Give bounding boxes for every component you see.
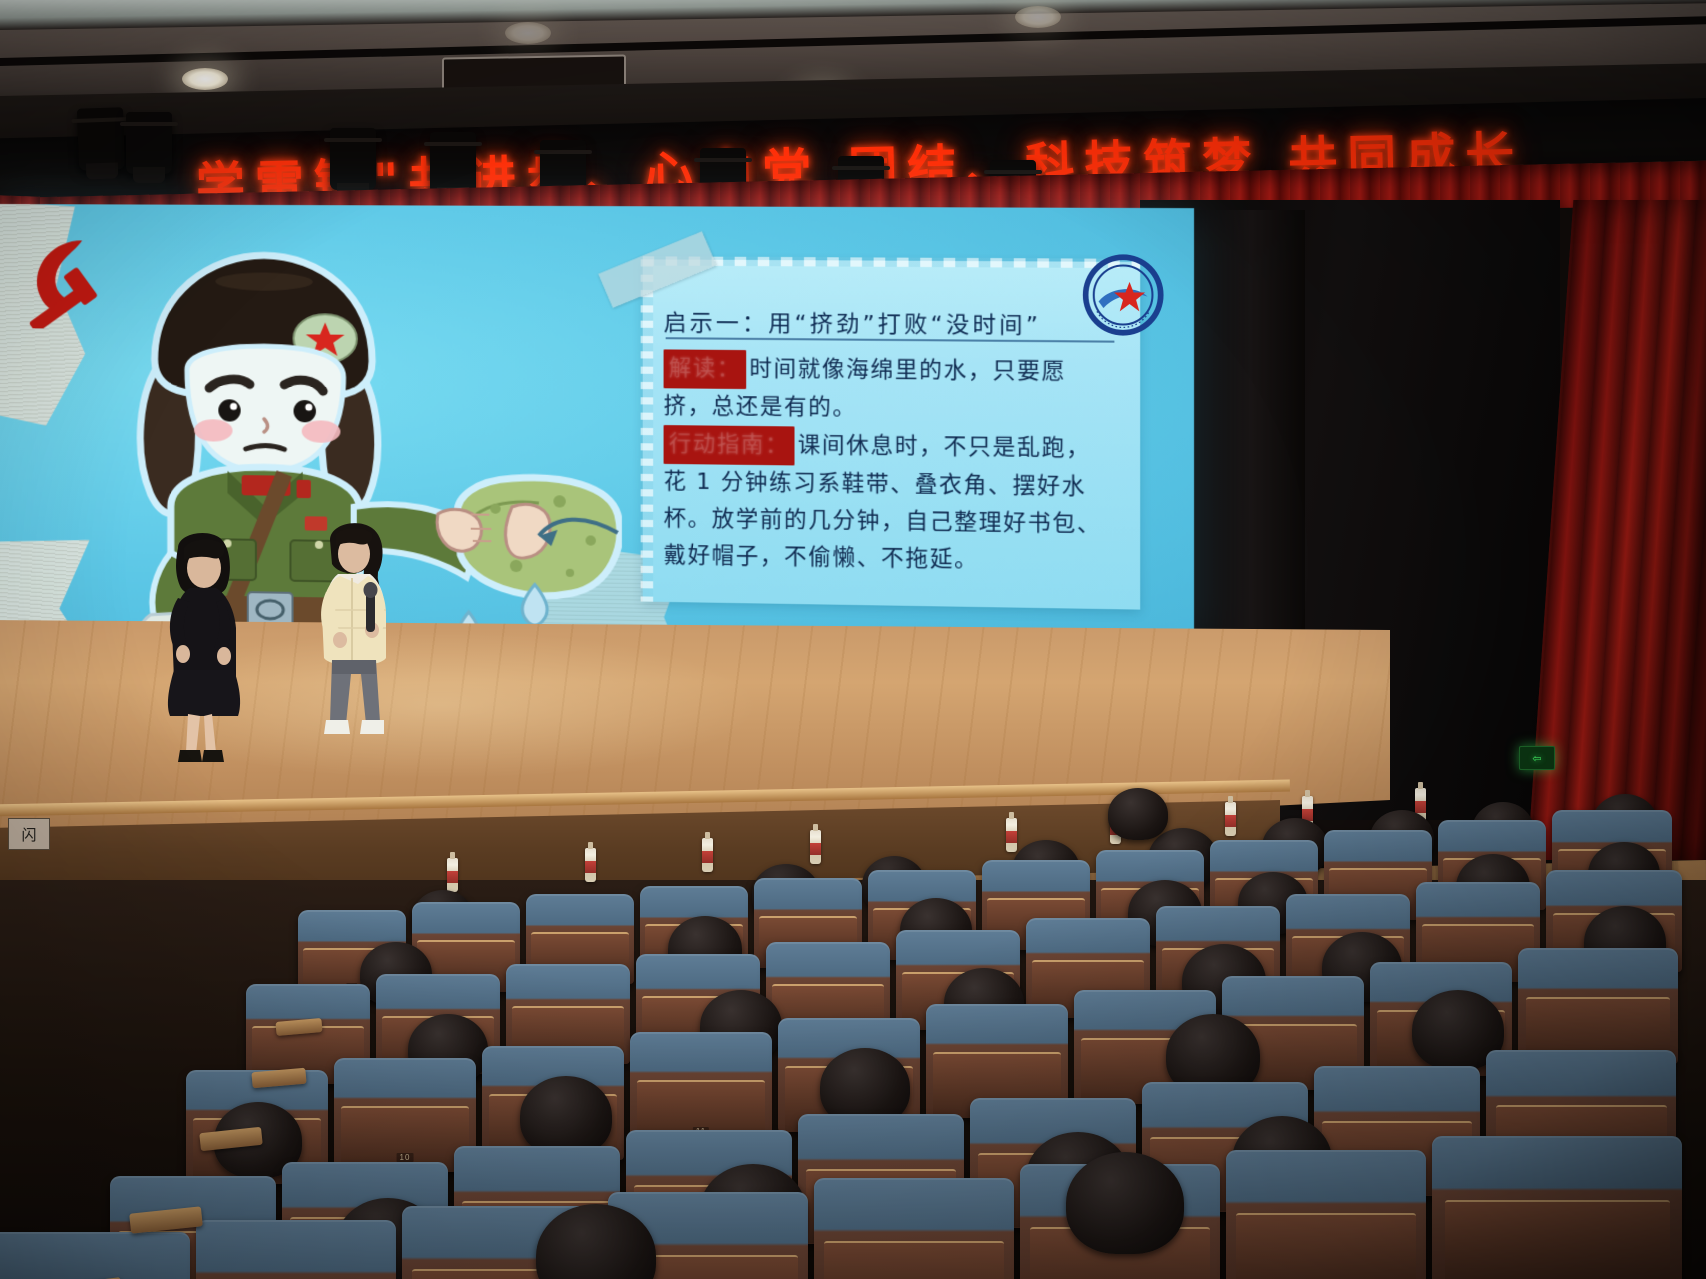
theater-seat[interactable] xyxy=(814,1178,1014,1279)
theater-seat[interactable] xyxy=(1518,948,1678,1064)
stage-front-sign: 闪 xyxy=(8,818,50,850)
seat-number: 10 xyxy=(397,1153,414,1162)
stage-par-light xyxy=(77,107,125,171)
teacher-presenter xyxy=(150,530,260,770)
theater-seat[interactable]: 11 xyxy=(630,1032,772,1146)
slide-heading: 启示一：用“挤劲”打败“没时间” xyxy=(664,304,1119,340)
audience-head xyxy=(1066,1152,1184,1254)
auditorium-seating: 1 2 3 4 5 6 7 8 9 xyxy=(0,880,1706,1279)
audience-head xyxy=(1108,788,1168,840)
slide-body: 解读：时间就像海绵里的水，只要愿挤，总还是有的。 行动指南：课间休息时，不只是乱… xyxy=(664,349,1115,581)
student-speaker xyxy=(300,518,410,766)
slide-paragraph-2: 行动指南：课间休息时，不只是乱跑，花 1 分钟练习系鞋带、叠衣角、摆好水杯。放学… xyxy=(664,425,1115,581)
theater-seat[interactable] xyxy=(0,1232,190,1279)
stage-par-light xyxy=(330,128,376,190)
redacted-tag-1: 解读： xyxy=(664,349,747,389)
audience-head xyxy=(520,1076,612,1156)
theater-seat[interactable] xyxy=(196,1220,396,1279)
exit-sign: ⇦ xyxy=(1519,746,1555,770)
water-bottle xyxy=(447,858,458,892)
slide-paragraph-1: 解读：时间就像海绵里的水，只要愿挤，总还是有的。 xyxy=(664,349,1115,429)
redacted-tag-2: 行动指南： xyxy=(664,425,795,465)
ceiling-downlight xyxy=(505,22,551,44)
stage-par-light xyxy=(430,132,476,194)
water-bottle xyxy=(1225,802,1236,836)
ceiling-downlight xyxy=(1015,6,1061,28)
auditorium-photo: 学雷锋"共进步、心向党 团结、科技筑梦 共同成长 xyxy=(0,0,1706,1279)
ceiling-downlight xyxy=(182,68,228,90)
water-bottle xyxy=(702,838,713,872)
water-bottle xyxy=(1006,818,1017,852)
water-bottle xyxy=(585,848,596,882)
stage-par-light xyxy=(126,112,172,174)
school-emblem-icon xyxy=(1082,254,1164,336)
water-bottle xyxy=(810,830,821,864)
theater-seat[interactable] xyxy=(1226,1150,1426,1279)
theater-seat[interactable] xyxy=(1432,1136,1682,1279)
